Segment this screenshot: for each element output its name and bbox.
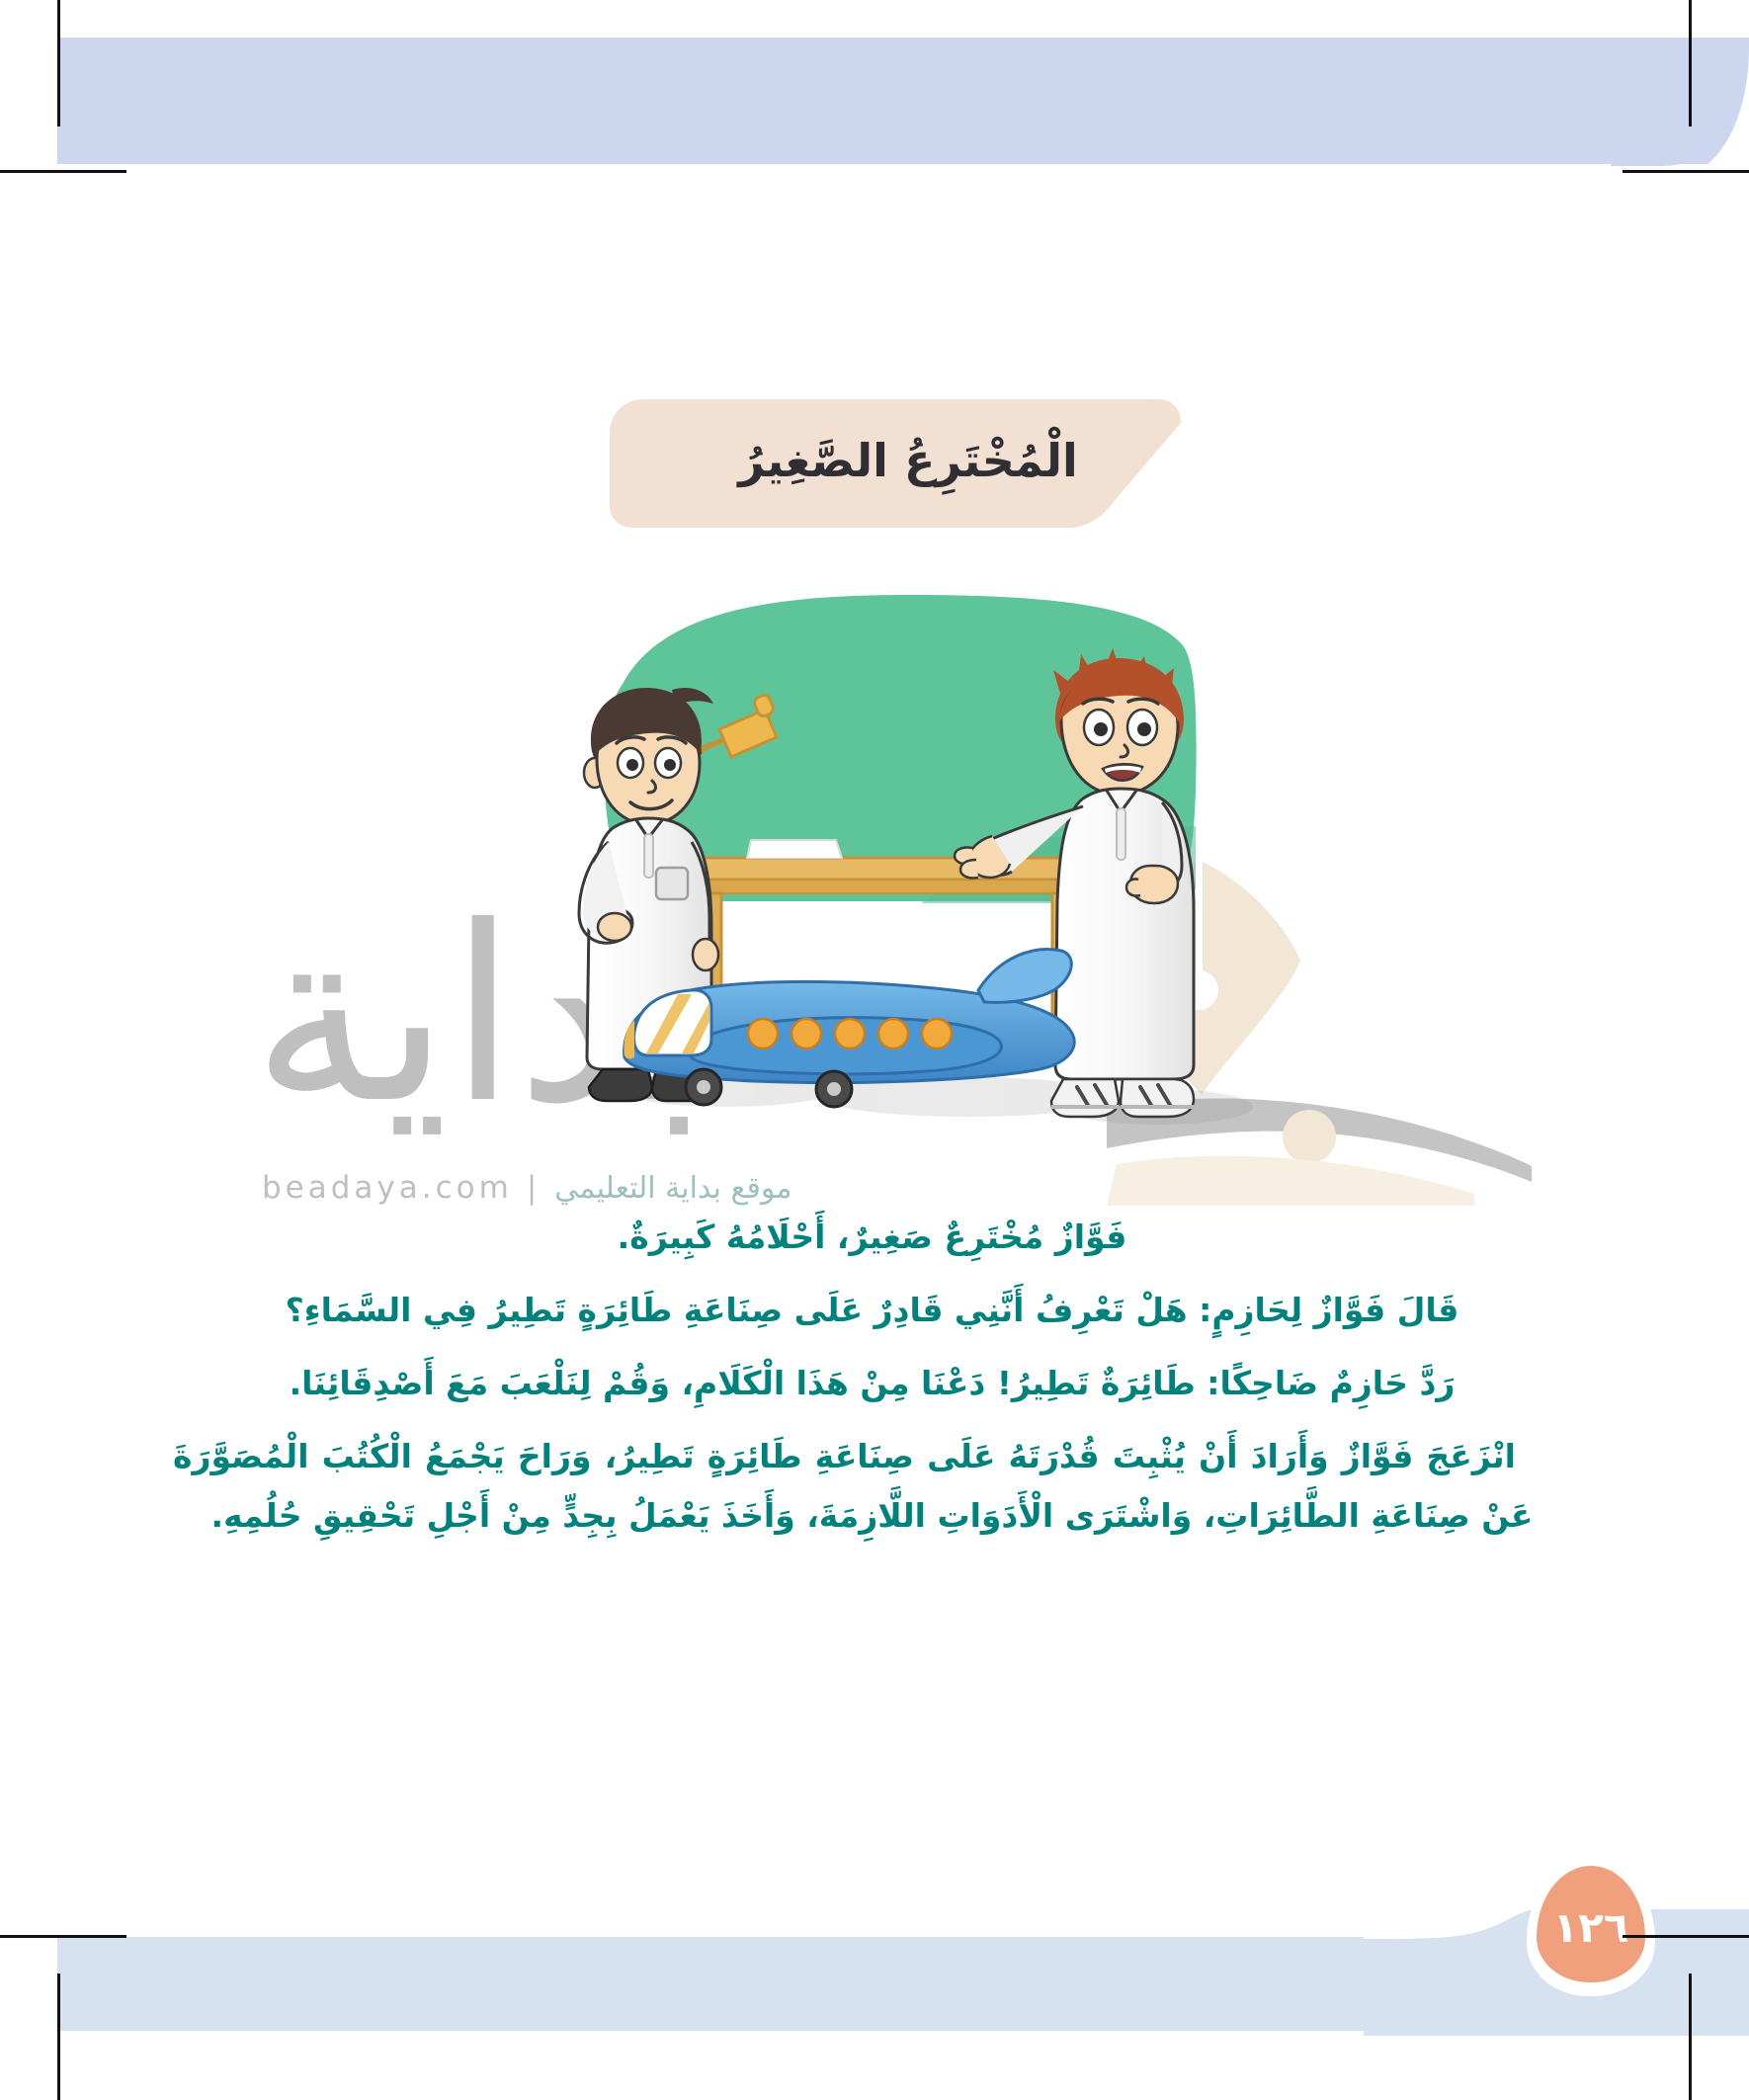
lesson-illustration — [553, 593, 1285, 1176]
crop-mark-top-right-vertical — [1689, 0, 1692, 126]
watermark-site-text: beadaya.com — [262, 1170, 513, 1206]
paragraph-3: رَدَّ حَازِمٌ ضَاحِكًا: طَائِرَةٌ تَطِير… — [173, 1354, 1571, 1413]
paper-sheet — [747, 840, 842, 858]
watermark-separator: | — [527, 1170, 541, 1206]
paragraph-2: قَالَ فَوَّازٌ لِحَازِمٍ: هَلْ تَعْرِفُ … — [173, 1281, 1571, 1340]
crop-mark-top-right-horizontal — [1623, 170, 1749, 173]
page-number-badge: ١٢٦ — [1527, 1858, 1655, 1996]
lesson-body-text: فَوَّازٌ مُخْتَرِعٌ صَغِيرٌ، أَحْلَامُهُ… — [173, 1208, 1571, 1559]
page-number-text: ١٢٦ — [1553, 1897, 1629, 1952]
lesson-title-plaque: الْمُخْتَرِعُ الصَّغِيرُ — [610, 399, 1181, 528]
paragraph-1: فَوَّازٌ مُخْتَرِعٌ صَغِيرٌ، أَحْلَامُهُ… — [173, 1208, 1571, 1267]
crop-mark-bottom-right-vertical — [1689, 1974, 1692, 2100]
header-band-curve — [1611, 38, 1749, 166]
crop-mark-bottom-left-vertical — [57, 1974, 60, 2100]
crop-mark-top-left-horizontal — [0, 170, 126, 173]
crop-mark-bottom-right-horizontal — [1623, 1935, 1749, 1938]
textbook-page: بداية beadaya.com | موقع بداية التعليمي … — [0, 0, 1749, 2100]
crop-mark-bottom-left-horizontal — [0, 1935, 126, 1938]
paragraph-4: انْزَعَجَ فَوَّازٌ وَأَرَادَ أَنْ يُثْبِ… — [173, 1427, 1571, 1546]
crop-mark-top-left-vertical — [57, 0, 60, 126]
header-decorative-band — [57, 38, 1749, 164]
lesson-title: الْمُخْتَرِعُ الصَّغِيرُ — [610, 399, 1181, 528]
